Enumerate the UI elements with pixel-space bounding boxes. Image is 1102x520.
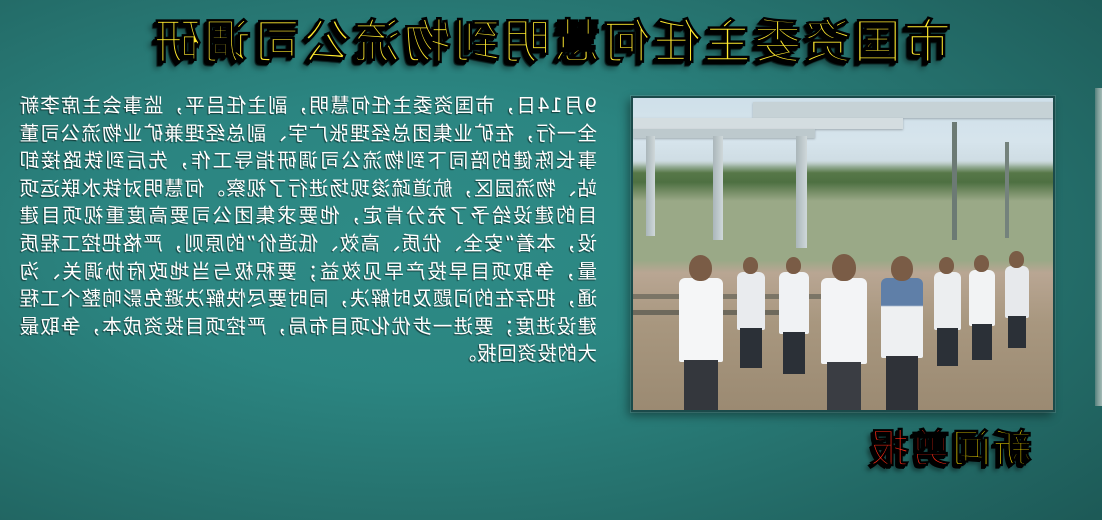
person-legs [972,324,992,360]
person-head [1009,251,1024,268]
person-legs [1008,316,1026,348]
person-legs [827,362,862,412]
canopy-beam-icon [753,102,1053,118]
person-legs [937,328,958,366]
canopy-beam-icon [633,129,815,138]
article-paragraph: 9月14日，市国资委主任何慧明，副主任吕平，监事会主席李新全一行，在矿业集团总经… [19,92,597,368]
scan-edge-band [1095,88,1102,406]
news-clipping-stamp: 新闻剪报 [868,426,1032,474]
stamp-label-a: 新闻 [950,427,1032,472]
person-figure [737,272,765,330]
person-figure [881,278,923,358]
person-head [832,254,856,281]
person-legs [886,356,918,410]
person-figure [969,270,995,326]
person-head [786,257,801,274]
catenary-pole-icon [1005,142,1009,238]
person-head [743,257,758,274]
person-head [974,255,989,272]
canopy-beam-icon [633,118,903,129]
person-legs [684,360,717,412]
canopy-pillar-icon [713,136,723,240]
canopy-pillar-icon [796,136,807,248]
person-figure [821,278,867,364]
canopy-pillar-icon [646,136,655,236]
person-legs [740,328,761,368]
news-photo [633,98,1053,410]
person-head [891,256,913,281]
person-head [940,257,955,274]
page-title: 市国资委主任何慧明到物流公司调研 [0,14,1102,72]
article-body: 9月14日，市国资委主任何慧明，副主任吕平，监事会主席李新全一行，在矿业集团总经… [19,92,597,368]
stamp-label-b: 剪报 [868,427,950,472]
person-legs [783,332,806,374]
news-photo-frame [631,96,1055,412]
person-head [689,255,712,281]
person-figure [1005,266,1029,318]
person-figure [679,278,723,362]
person-figure [934,272,961,330]
news-clipping-poster: 市国资委主任何慧明到物流公司调研 [0,0,1102,520]
catenary-pole-icon [952,122,957,240]
person-figure [779,272,809,334]
